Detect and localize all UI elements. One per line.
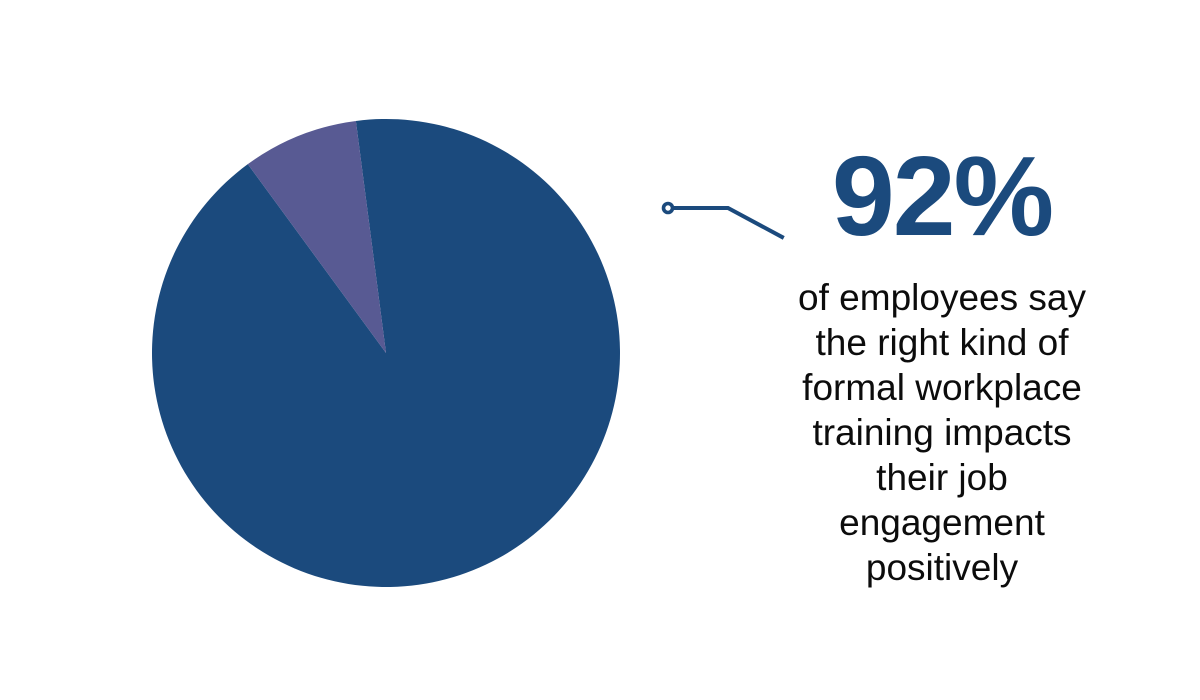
pie-slice-agree[interactable] — [152, 119, 620, 587]
leader-line-open-circle-icon — [664, 204, 673, 213]
pie-chart-svg — [140, 107, 632, 599]
infographic-canvas: 92% of employees say the right kind of f… — [0, 0, 1200, 700]
statistic-callout: 92% of employees say the right kind of f… — [772, 140, 1112, 590]
leader-line-path — [669, 208, 782, 237]
pie-chart — [140, 107, 632, 599]
statistic-description: of employees say the right kind of forma… — [772, 275, 1112, 590]
statistic-value: 92% — [772, 140, 1112, 253]
